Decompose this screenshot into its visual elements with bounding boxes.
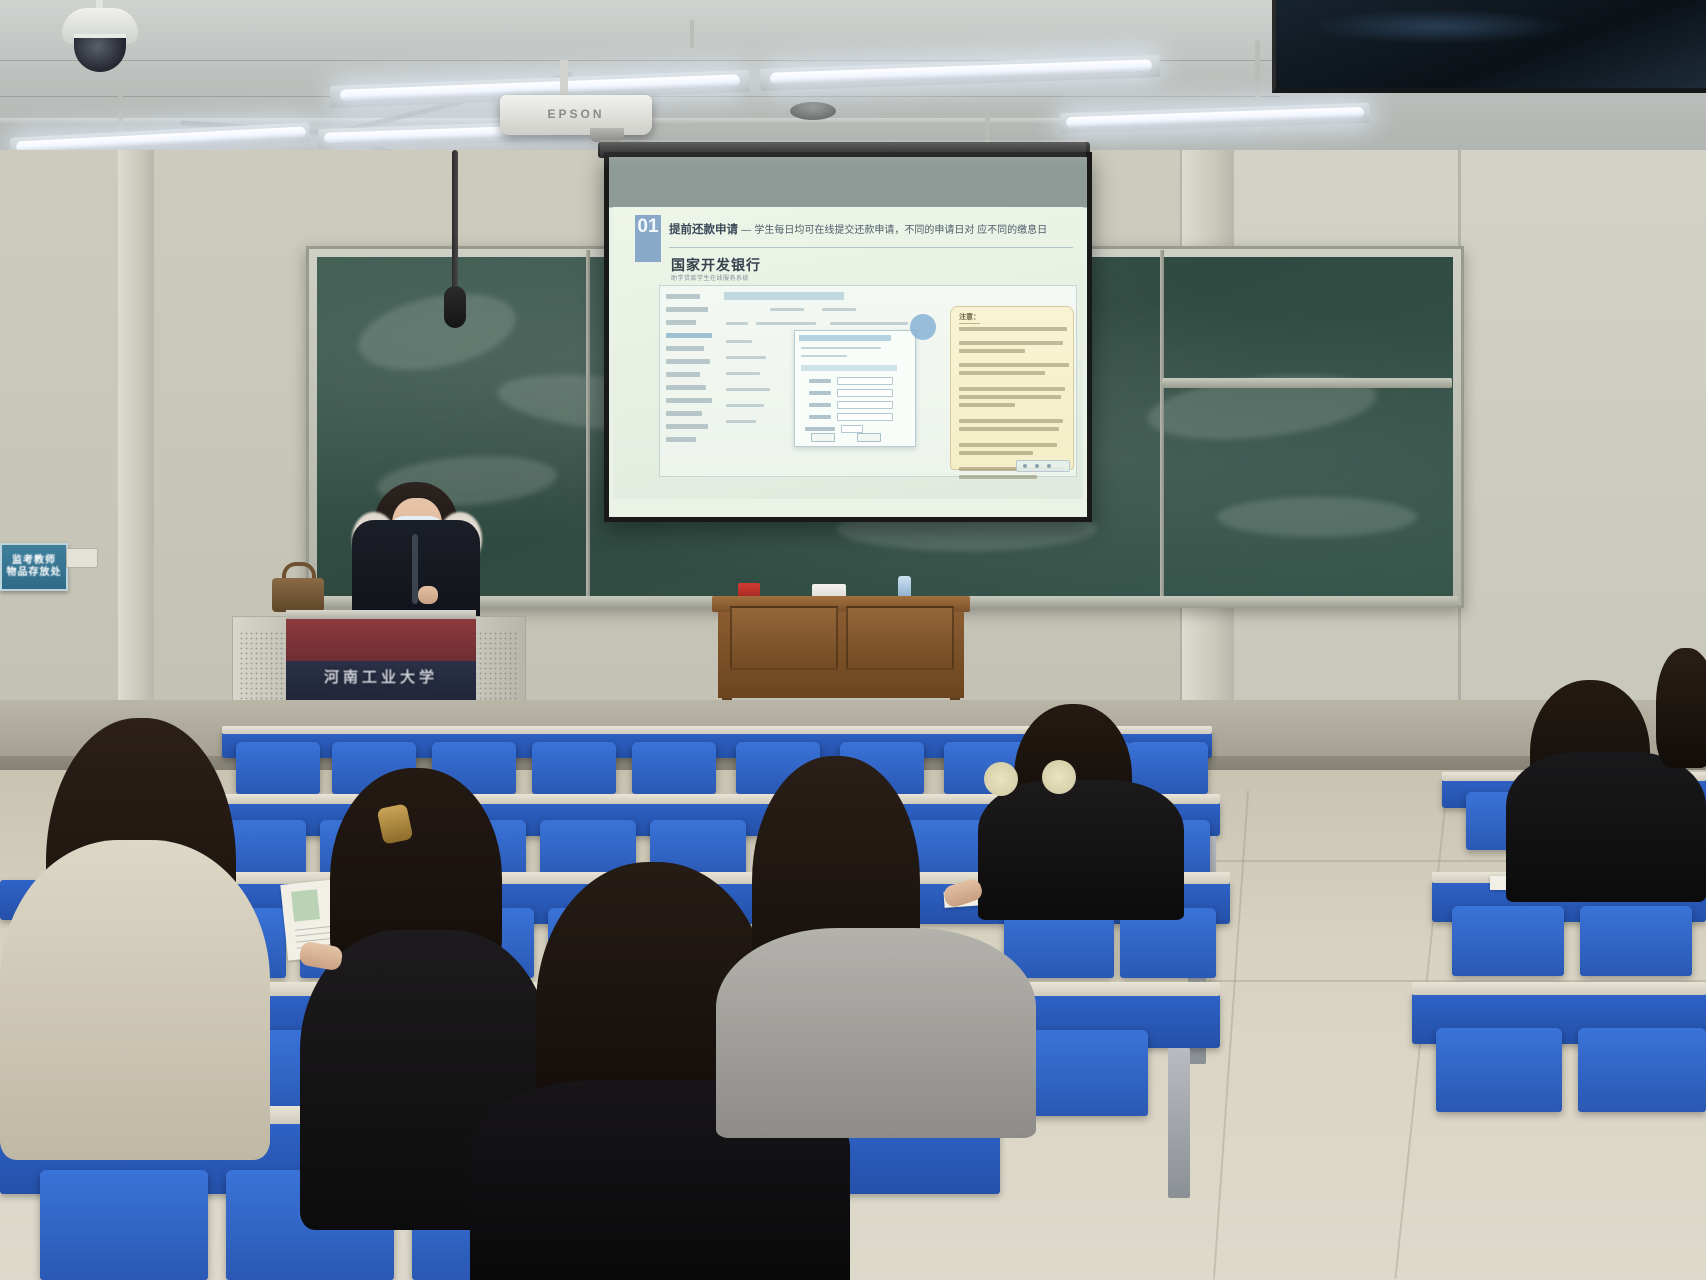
notes-line (959, 363, 1069, 367)
portal-text-line (822, 308, 856, 311)
student-seated (716, 928, 1036, 1138)
portal-nav-item[interactable] (666, 307, 708, 312)
portal-text-line (756, 322, 816, 325)
portal-nav-item[interactable] (666, 398, 712, 403)
chair[interactable] (1580, 906, 1692, 976)
portal-nav-item[interactable] (666, 294, 700, 299)
slide-subtitle: 学生每日均可在线提交还款申请，不同的申请日对 应不同的缴息日 (754, 225, 1047, 236)
presentation-slide: 01 提前还款申请 — 学生每日均可在线提交还款申请，不同的申请日对 应不同的缴… (613, 207, 1083, 499)
portal-text-line (726, 420, 756, 423)
portal-nav-item[interactable] (666, 346, 704, 351)
ceiling-hanger (690, 20, 694, 48)
paper-logo (291, 889, 320, 922)
portal-nav-item[interactable] (666, 372, 700, 377)
notes-line (959, 349, 1025, 353)
bank-name: 国家开发银行 (671, 255, 761, 275)
student-seated (0, 840, 270, 1160)
portal-nav-item[interactable] (666, 437, 696, 442)
tv-screen-glow (1310, 9, 1568, 44)
wall-pillar (118, 150, 154, 750)
portal-nav-item[interactable] (666, 385, 706, 390)
microphone-boom (452, 150, 458, 300)
student-hair (1656, 648, 1706, 768)
dialog-confirm-button[interactable] (811, 433, 835, 442)
notes-line (959, 341, 1063, 345)
dialog-input-field[interactable] (837, 401, 893, 409)
dialog-field-label (809, 379, 831, 383)
dialog-input-field[interactable] (841, 425, 863, 433)
notes-line (959, 403, 1015, 407)
dialog-input-field[interactable] (837, 377, 893, 385)
proctor-storage-sign: 监考教师 物品存放处 (0, 543, 68, 591)
portal-text-line (726, 404, 764, 407)
dialog-section-header (801, 365, 897, 371)
chair[interactable] (632, 742, 716, 794)
projector-mount (560, 60, 568, 98)
notes-line (959, 395, 1061, 399)
lectern-front-red-panel (286, 619, 476, 661)
student-jacket (1506, 752, 1706, 902)
portal-nav-item[interactable] (666, 359, 710, 364)
projector: EPSON (500, 95, 652, 135)
notes-line (959, 387, 1065, 391)
projection-screen: 01 提前还款申请 — 学生每日均可在线提交还款申请，不同的申请日对 应不同的缴… (604, 152, 1092, 522)
slide-number-badge: 01 (635, 215, 661, 262)
dialog-header (799, 335, 891, 341)
portal-nav-item-active[interactable] (666, 333, 712, 338)
dialog-text-line (801, 347, 881, 349)
microphone (444, 286, 466, 328)
chalkboard-divider (586, 250, 590, 598)
student-seated-right (1506, 752, 1706, 902)
ceiling-fan-hub (790, 102, 836, 120)
chalk-rail (1162, 378, 1452, 388)
portal-topbar (724, 292, 844, 300)
desk-support-rail (1168, 1048, 1190, 1198)
portal-text-line (726, 340, 752, 343)
dialog-input-field[interactable] (837, 389, 893, 397)
table-panel (846, 606, 954, 670)
screen-surface: 01 提前还款申请 — 学生每日均可在线提交还款申请，不同的申请日对 应不同的缴… (609, 157, 1087, 517)
table-panel (730, 606, 838, 670)
lectern-desktop[interactable] (286, 610, 476, 619)
chalkboard-divider (1160, 250, 1164, 598)
status-dot (1035, 464, 1039, 468)
portal-text-line (726, 372, 760, 375)
notes-line (959, 427, 1059, 431)
wall-mounted-tv (1272, 0, 1706, 93)
slide-title: 提前还款申请 — 学生每日均可在线提交还款申请，不同的申请日对 应不同的缴息日 (669, 221, 1079, 237)
notes-line (959, 451, 1033, 455)
notes-line (959, 419, 1063, 423)
screenshot-of-loan-portal: 注意： (659, 285, 1077, 477)
dialog-text-line (801, 355, 847, 357)
sign-line-1: 监考教师 (12, 555, 56, 567)
notes-line (959, 443, 1057, 447)
notes-line (959, 327, 1067, 331)
hair-ornament (984, 762, 1018, 796)
portal-text-line (726, 322, 748, 325)
classroom-scene: EPSON 监考教师 物品存放处 (0, 0, 1706, 1280)
student-jacket (0, 840, 270, 1160)
notes-line (959, 371, 1045, 375)
dialog-field-label (809, 415, 831, 419)
hair-ornament (1042, 760, 1076, 794)
chalk-mark (1217, 497, 1417, 537)
notes-panel: 注意： (950, 306, 1074, 470)
instructor-table (712, 596, 970, 712)
student-seated (978, 780, 1184, 920)
chair[interactable] (1452, 906, 1564, 976)
dialog-field-label (809, 391, 831, 395)
portal-text-line (726, 356, 766, 359)
dialog-field-label (805, 427, 835, 431)
university-name-plate: 河南工业大学 (286, 666, 476, 687)
highlight-circle (910, 314, 936, 340)
chalk-mark (351, 281, 522, 383)
portal-nav-item[interactable] (666, 320, 696, 325)
dialog-input-field[interactable] (837, 413, 893, 421)
portal-text-line (726, 388, 770, 391)
notes-title: 注意： (959, 312, 980, 324)
browser-statusbar[interactable] (1016, 460, 1070, 472)
student-seated-right-edge (1656, 648, 1706, 768)
chair[interactable] (236, 742, 320, 794)
repayment-dialog[interactable] (794, 330, 916, 447)
status-dot (1023, 464, 1027, 468)
portal-text-line (830, 322, 908, 325)
projector-brand-label: EPSON (500, 107, 652, 121)
portal-nav-item[interactable] (666, 411, 702, 416)
notes-line (959, 475, 1037, 479)
portal-nav-item[interactable] (666, 424, 708, 429)
power-outlet[interactable] (66, 548, 98, 568)
dialog-cancel-button[interactable] (857, 433, 881, 442)
chair[interactable] (1436, 1028, 1562, 1112)
chair[interactable] (532, 742, 616, 794)
dialog-field-label (809, 403, 831, 407)
portal-sidebar[interactable] (664, 290, 720, 472)
chair[interactable] (1578, 1028, 1706, 1112)
projector-lens (590, 128, 624, 142)
bank-subtitle: 助学贷款学生在线服务系统 (671, 273, 749, 282)
student-grey-coat (716, 928, 1036, 1138)
slide-title-separator: — (741, 225, 751, 236)
chair[interactable] (40, 1170, 208, 1280)
sign-line-2: 物品存放处 (7, 567, 62, 579)
student-jacket (978, 780, 1184, 920)
desk-top-right-3 (1412, 982, 1706, 995)
slide-title-rule (669, 247, 1073, 248)
portal-text-line (770, 308, 804, 311)
status-dot (1047, 464, 1051, 468)
slide-title-main: 提前还款申请 (669, 224, 738, 236)
